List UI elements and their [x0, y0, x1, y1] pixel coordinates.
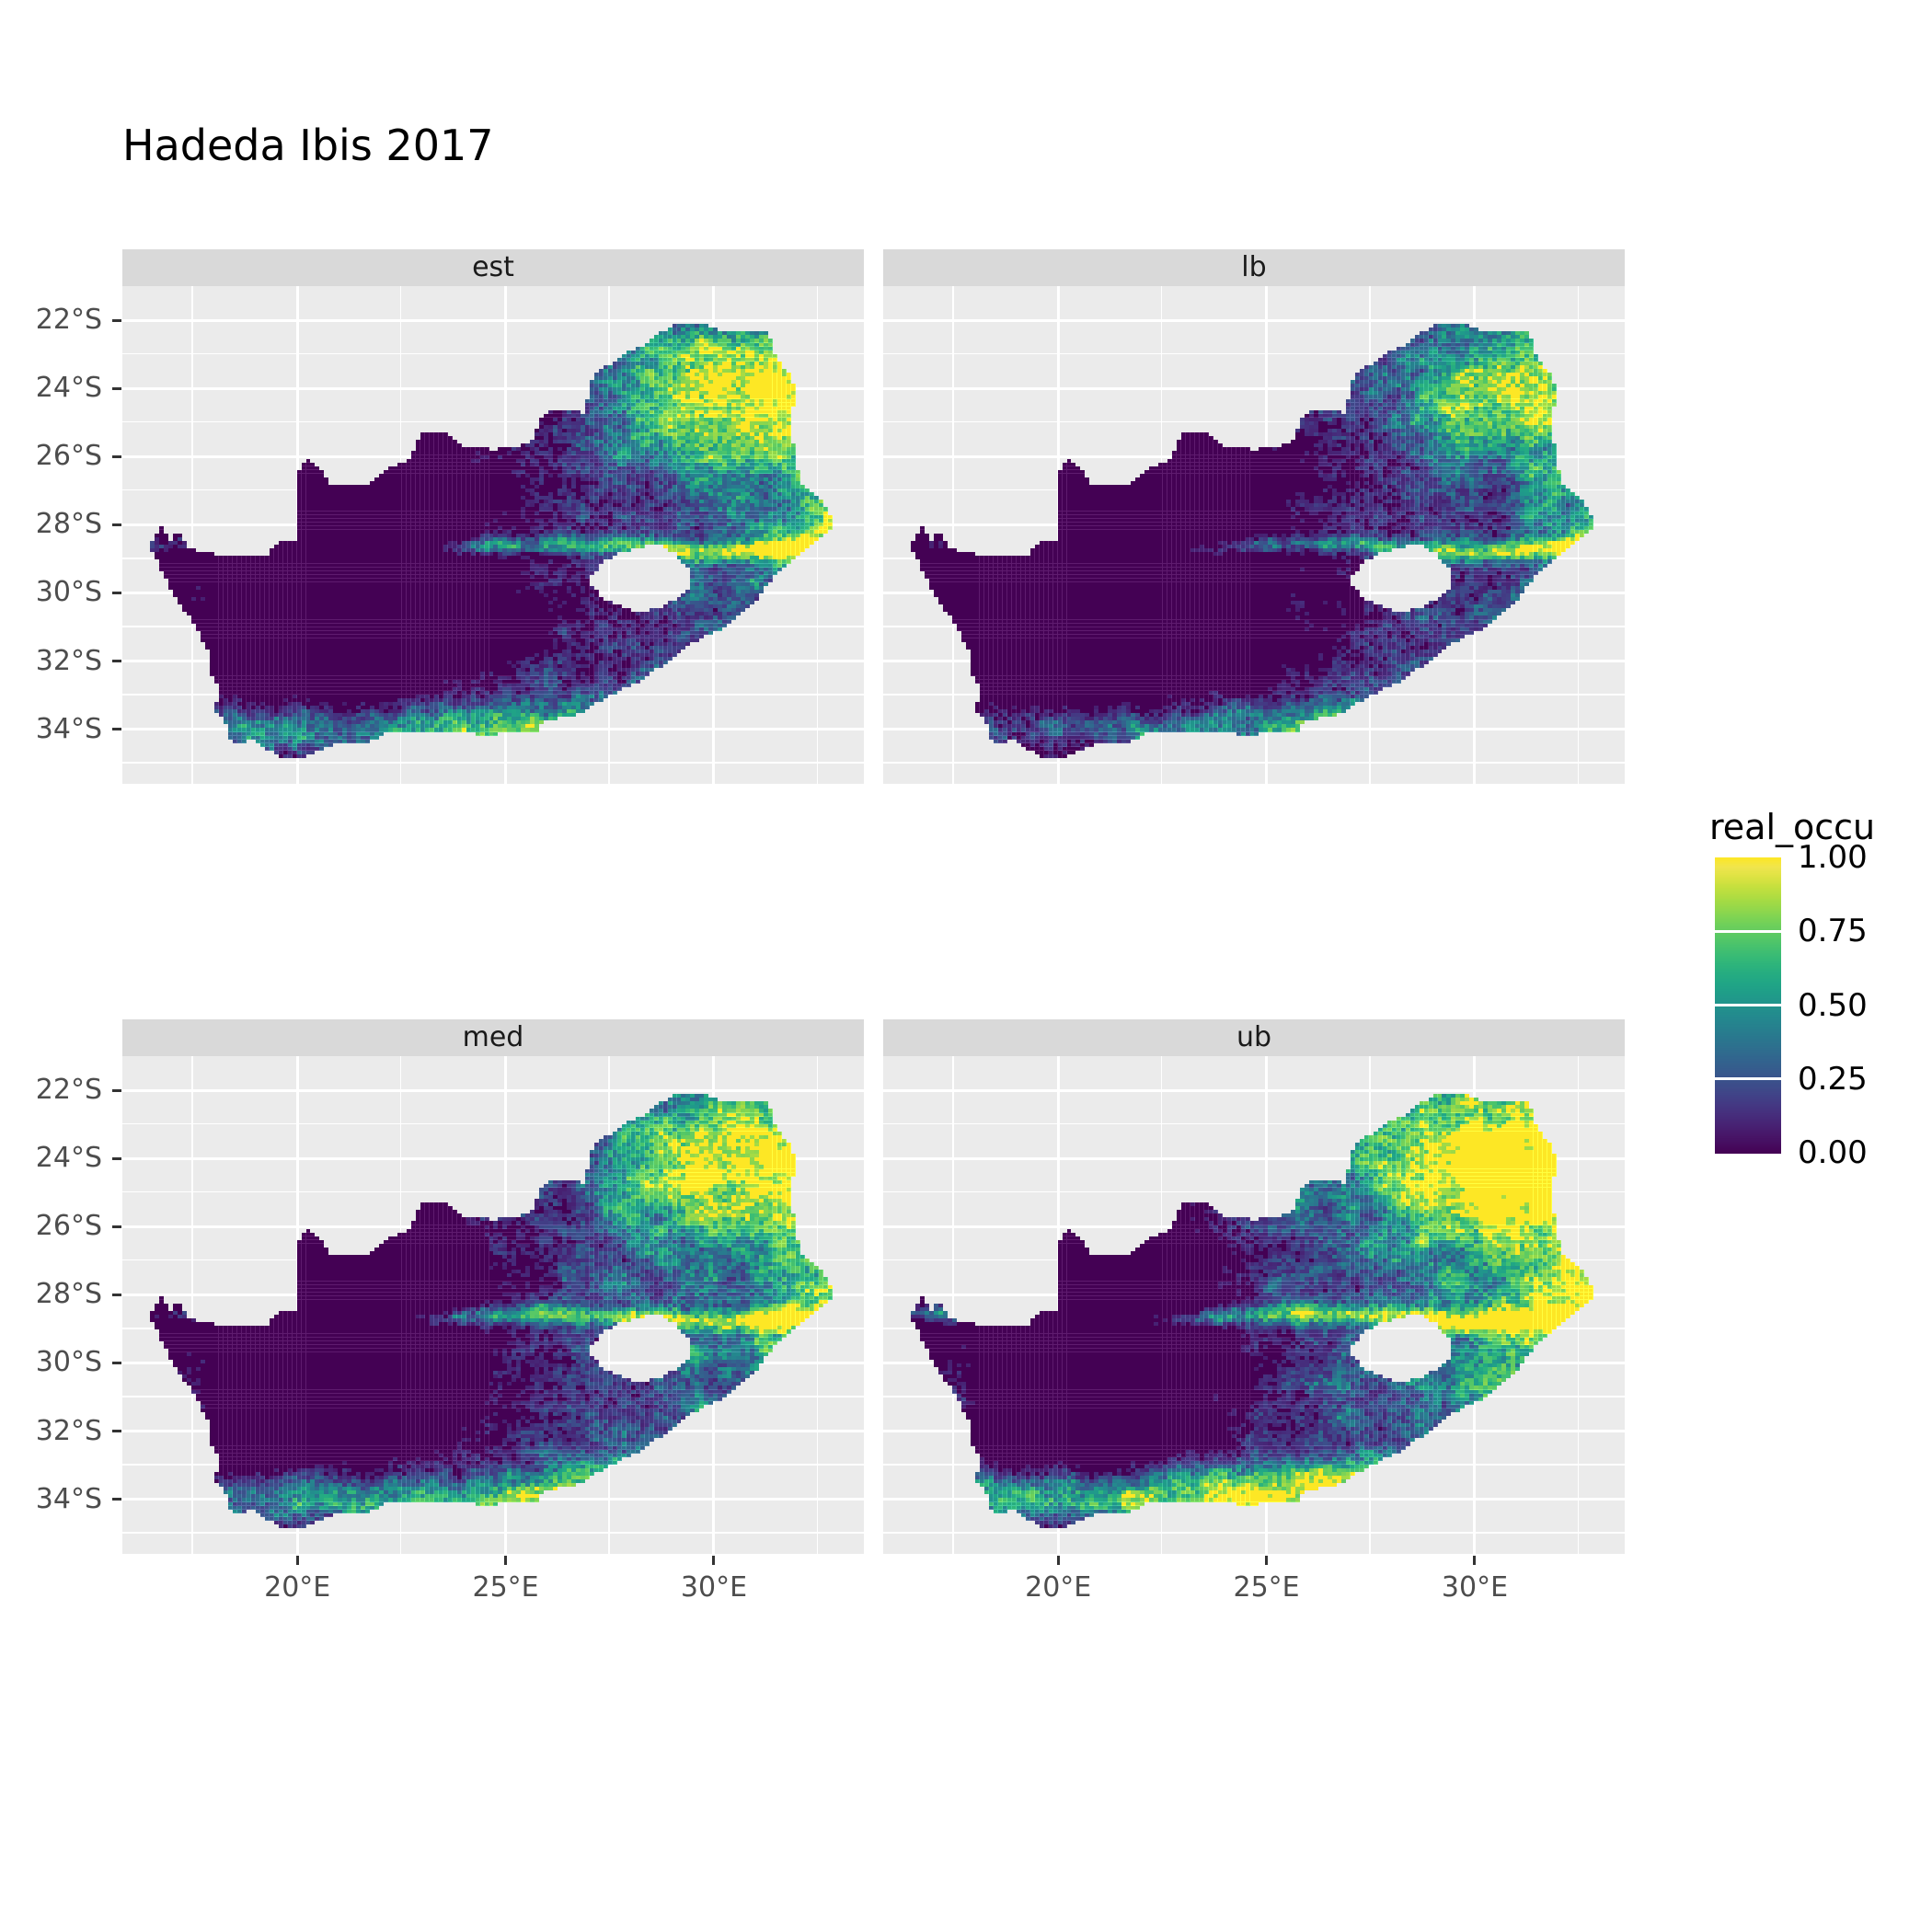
y-axis-label: 28°S	[0, 1281, 102, 1308]
facet-strip-label: med	[463, 1024, 524, 1052]
y-axis-tick	[112, 1294, 121, 1296]
x-axis-label: 30°E	[1442, 1574, 1508, 1602]
plot-figure: Hadeda Ibis 2017 est lb med ub 22°S24°S2…	[0, 0, 1932, 1932]
y-axis-label: 28°S	[0, 511, 102, 538]
x-axis-tick	[1265, 1556, 1268, 1565]
legend-tick-label: 1.00	[1798, 842, 1868, 873]
y-axis-label: 24°S	[0, 374, 102, 402]
facet-strip-est: est	[122, 249, 864, 286]
facet-strip-label: lb	[1241, 254, 1266, 282]
y-axis-label: 26°S	[0, 1213, 102, 1240]
occupancy-raster	[122, 286, 864, 784]
y-axis-tick	[112, 387, 121, 390]
map-panel-med	[122, 1056, 864, 1554]
x-axis-label: 30°E	[681, 1574, 747, 1602]
facet-strip-label: est	[472, 254, 514, 282]
y-axis-label: 34°S	[0, 1486, 102, 1513]
map-panel-ub	[883, 1056, 1625, 1554]
y-axis-tick	[112, 1157, 121, 1160]
y-axis-label: 24°S	[0, 1144, 102, 1172]
facet-strip-ub: ub	[883, 1019, 1625, 1056]
occupancy-raster	[883, 1056, 1625, 1554]
y-axis-tick	[112, 728, 121, 730]
y-axis-label: 32°S	[0, 1418, 102, 1445]
facet-strip-med: med	[122, 1019, 864, 1056]
map-panel-est	[122, 286, 864, 784]
x-axis-label: 20°E	[264, 1574, 330, 1602]
y-axis-label: 30°S	[0, 1349, 102, 1376]
x-axis-tick	[504, 1556, 507, 1565]
y-axis-label: 32°S	[0, 648, 102, 675]
y-axis-label: 22°S	[0, 1076, 102, 1104]
y-axis-label: 22°S	[0, 306, 102, 334]
x-axis-label: 25°E	[1234, 1574, 1300, 1602]
y-axis-tick	[112, 1362, 121, 1364]
y-axis-tick	[112, 1430, 121, 1432]
legend-tick-mark	[1715, 1004, 1781, 1006]
facet-strip-label: ub	[1236, 1024, 1271, 1052]
y-axis-tick	[112, 1498, 121, 1501]
y-axis-tick	[112, 1225, 121, 1228]
y-axis-tick	[112, 592, 121, 594]
y-axis-label: 34°S	[0, 716, 102, 743]
x-axis-label: 25°E	[473, 1574, 539, 1602]
legend-tick-label: 0.25	[1798, 1064, 1868, 1095]
occupancy-raster	[883, 286, 1625, 784]
map-panel-lb	[883, 286, 1625, 784]
y-axis-tick	[112, 1089, 121, 1092]
y-axis-tick	[112, 455, 121, 458]
y-axis-tick	[112, 319, 121, 322]
y-axis-tick	[112, 523, 121, 526]
facet-strip-lb: lb	[883, 249, 1625, 286]
y-axis-tick	[112, 660, 121, 662]
x-axis-tick	[1473, 1556, 1476, 1565]
legend-tick-mark	[1715, 930, 1781, 933]
x-axis-tick	[296, 1556, 299, 1565]
legend-tick-mark	[1715, 1077, 1781, 1080]
x-axis-tick	[1057, 1556, 1060, 1565]
y-axis-label: 30°S	[0, 579, 102, 606]
y-axis-label: 26°S	[0, 443, 102, 470]
legend-tick-label: 0.50	[1798, 990, 1868, 1021]
x-axis-tick	[712, 1556, 715, 1565]
page-title: Hadeda Ibis 2017	[122, 121, 494, 170]
x-axis-label: 20°E	[1025, 1574, 1091, 1602]
legend-tick-label: 0.75	[1798, 915, 1868, 947]
legend-tick-label: 0.00	[1798, 1137, 1868, 1168]
occupancy-raster	[122, 1056, 864, 1554]
